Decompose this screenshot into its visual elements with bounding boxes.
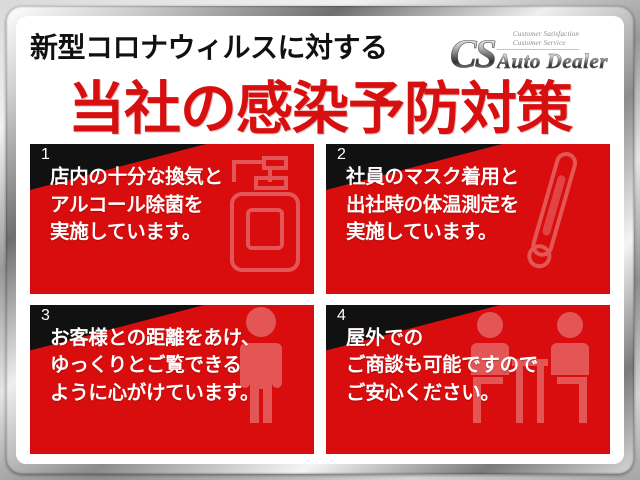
poster-card: 新型コロナウィルスに対する CS Customer Satisfaction C… xyxy=(16,16,624,464)
logo-tagline-line1: Customer Satisfaction xyxy=(513,30,579,38)
panel-text: 社員のマスク着用と 出社時の体温測定を 実施しています。 xyxy=(346,164,602,247)
page-title: 当社の感染予防対策 xyxy=(32,78,608,140)
measures-grid: 1 店内の十分な換気と アルコール除菌を xyxy=(30,144,610,454)
logo-wordmark: Auto Dealer xyxy=(497,51,608,72)
panel-text-line-1: 社員のマスク着用と xyxy=(346,164,602,192)
measure-panel-3: 3 お客様との距離をあけ、 ゆっくりとご覧できる ように心がけています。 xyxy=(30,305,314,455)
frame-inner-bevel: 新型コロナウィルスに対する CS Customer Satisfaction C… xyxy=(16,16,624,464)
measure-panel-1: 1 店内の十分な換気と アルコール除菌を xyxy=(30,144,314,294)
panel-text-line-1: 屋外での xyxy=(346,325,602,353)
panel-text-line-2: ご商談も可能ですので xyxy=(346,352,602,380)
logo-text-group: Customer Satisfaction Customer Service A… xyxy=(497,30,608,72)
logo-tagline-line2: Customer Service xyxy=(513,39,566,47)
header: 新型コロナウィルスに対する CS Customer Satisfaction C… xyxy=(30,28,610,80)
panel-text: 屋外での ご商談も可能ですので ご安心ください。 xyxy=(346,325,602,408)
panel-text-line-2: ゆっくりとご覧できる xyxy=(50,352,306,380)
panel-text: お客様との距離をあけ、 ゆっくりとご覧できる ように心がけています。 xyxy=(50,325,306,408)
header-subtitle: 新型コロナウィルスに対する xyxy=(30,28,388,62)
panel-text-line-2: アルコール除菌を xyxy=(50,192,306,220)
panel-text: 店内の十分な換気と アルコール除菌を 実施しています。 xyxy=(50,164,306,247)
panel-text-line-3: ご安心ください。 xyxy=(346,380,602,408)
measure-panel-4: 4 xyxy=(326,305,610,455)
panel-number: 4 xyxy=(337,308,346,324)
panel-text-line-2: 出社時の体温測定を xyxy=(346,192,602,220)
panel-number: 2 xyxy=(337,147,346,163)
panel-text-line-1: 店内の十分な換気と xyxy=(50,164,306,192)
cs-auto-dealer-logo: CS Customer Satisfaction Customer Servic… xyxy=(450,28,610,72)
panel-number: 3 xyxy=(41,308,50,324)
measure-panel-2: 2 社員のマスク着用と 出社時の体温測定を 実施 xyxy=(326,144,610,294)
panel-text-line-3: 実施しています。 xyxy=(50,219,306,247)
poster: 新型コロナウィルスに対する CS Customer Satisfaction C… xyxy=(0,0,640,480)
panel-text-line-3: 実施しています。 xyxy=(346,219,602,247)
panel-number: 1 xyxy=(41,147,50,163)
panel-text-line-3: ように心がけています。 xyxy=(50,380,306,408)
panel-text-line-1: お客様との距離をあけ、 xyxy=(50,325,306,353)
logo-tagline: Customer Satisfaction Customer Service xyxy=(497,30,579,50)
logo-cs-mark: CS xyxy=(450,36,495,72)
